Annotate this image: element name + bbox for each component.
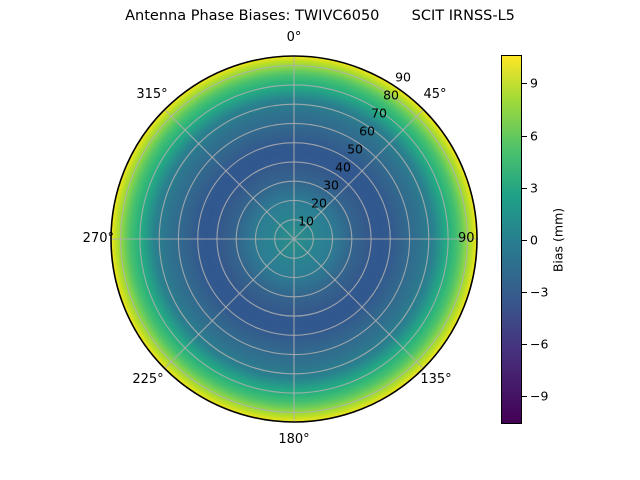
colorbar-tick-mark-0	[522, 240, 527, 241]
colorbar-tick-mark-m3	[522, 292, 527, 293]
colorbar: 9 6 3 0 −3 −6 −9	[501, 55, 522, 424]
r-tick-10: 10	[298, 214, 314, 229]
theta-tick-315: 315°	[122, 87, 182, 102]
r-tick-30: 30	[323, 178, 339, 193]
colorbar-tick-mark-m6	[522, 344, 527, 345]
colorbar-tick-label-3: 3	[530, 181, 538, 196]
colorbar-tick-mark-9	[522, 83, 527, 84]
polar-plot-axes: 0° 45° 90 135° 180° 225° 270° 315° 10 20…	[110, 55, 478, 423]
angular-gridlines	[111, 56, 477, 422]
page-title: Antenna Phase Biases: TWIVC6050 SCIT IRN…	[0, 8, 640, 24]
theta-tick-225: 225°	[118, 372, 178, 387]
colorbar-axis-label: Bias (mm)	[551, 208, 566, 272]
r-tick-80: 80	[383, 88, 399, 103]
colorbar-tick-label-m9: −9	[530, 389, 548, 404]
colorbar-tick-mark-m9	[522, 396, 527, 397]
colorbar-tick-label-9: 9	[530, 76, 538, 91]
theta-tick-180: 180°	[264, 432, 324, 447]
theta-tick-90: 90	[458, 231, 498, 246]
colorbar-gradient-strip	[501, 55, 522, 424]
r-tick-60: 60	[359, 124, 375, 139]
theta-tick-0: 0°	[274, 30, 314, 45]
colorbar-tick-mark-6	[522, 136, 527, 137]
r-tick-70: 70	[371, 106, 387, 121]
r-tick-50: 50	[347, 142, 363, 157]
colorbar-tick-mark-3	[522, 188, 527, 189]
theta-tick-45: 45°	[410, 87, 460, 102]
r-tick-40: 40	[335, 160, 351, 175]
colorbar-tick-label-6: 6	[530, 129, 538, 144]
r-tick-20: 20	[311, 196, 327, 211]
r-tick-90: 90	[395, 70, 411, 85]
colorbar-tick-label-m3: −3	[530, 285, 548, 300]
matplotlib-figure: Antenna Phase Biases: TWIVC6050 SCIT IRN…	[0, 0, 640, 480]
polar-plot-svg	[110, 55, 478, 423]
theta-tick-270: 270°	[54, 231, 114, 246]
colorbar-tick-label-m6: −6	[530, 337, 548, 352]
colorbar-tick-label-0: 0	[530, 233, 538, 248]
theta-tick-135: 135°	[406, 372, 466, 387]
